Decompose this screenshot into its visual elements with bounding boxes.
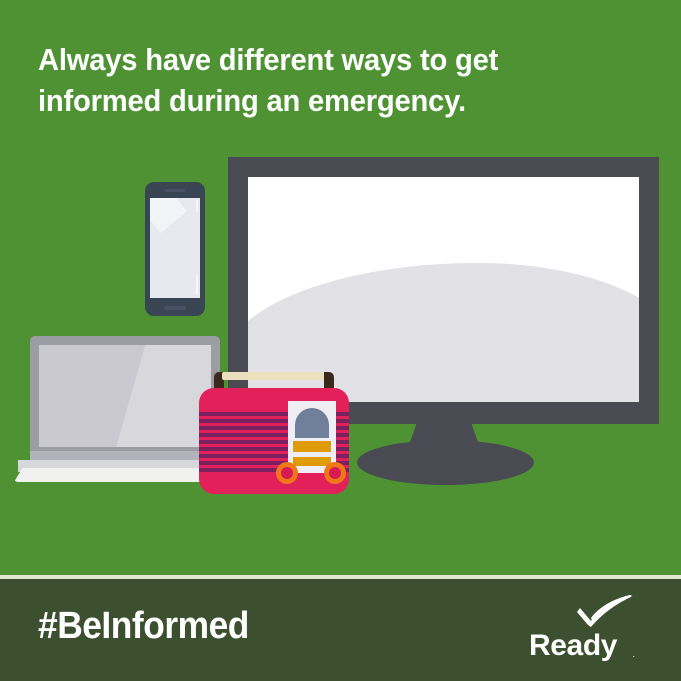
laptop-front-edge [14,468,226,482]
television-screen [248,177,639,402]
radio-handle [222,372,326,380]
ready-trademark: . [632,649,635,659]
campaign-hashtag: #BeInformed [38,605,249,648]
ready-logo: Ready . [529,595,639,665]
radio-knob-left [276,462,298,484]
laptop-screen [39,345,211,447]
laptop-lid [30,336,220,456]
footer-banner: #BeInformed Ready . [0,579,681,681]
laptop-screen-glare [105,345,211,447]
television-stand-base [357,440,534,485]
ready-wordmark: Ready [529,629,617,663]
radio-dial-bar-lower [293,457,331,466]
smartphone-illustration [145,182,205,316]
radio-dial-panel [288,401,336,473]
smartphone-screen-edge-highlight-top [196,200,198,212]
radio-body [199,388,349,494]
page-title: Always have different ways to get inform… [38,40,564,122]
double-check-swoosh-icon [575,595,637,629]
radio-knob-right [324,462,346,484]
smartphone-earpiece [165,189,185,192]
television-screen-glare [248,263,639,403]
radio-dial-arch [295,408,329,438]
smartphone-screen-glare [150,198,187,233]
ready-campaign-poster: Always have different ways to get inform… [0,0,681,681]
smartphone-screen [150,198,200,298]
radio-dial-bar-upper [293,441,331,452]
smartphone-home-button [164,306,186,310]
television-bezel [228,157,659,424]
smartphone-screen-edge-highlight-bottom [196,275,198,295]
